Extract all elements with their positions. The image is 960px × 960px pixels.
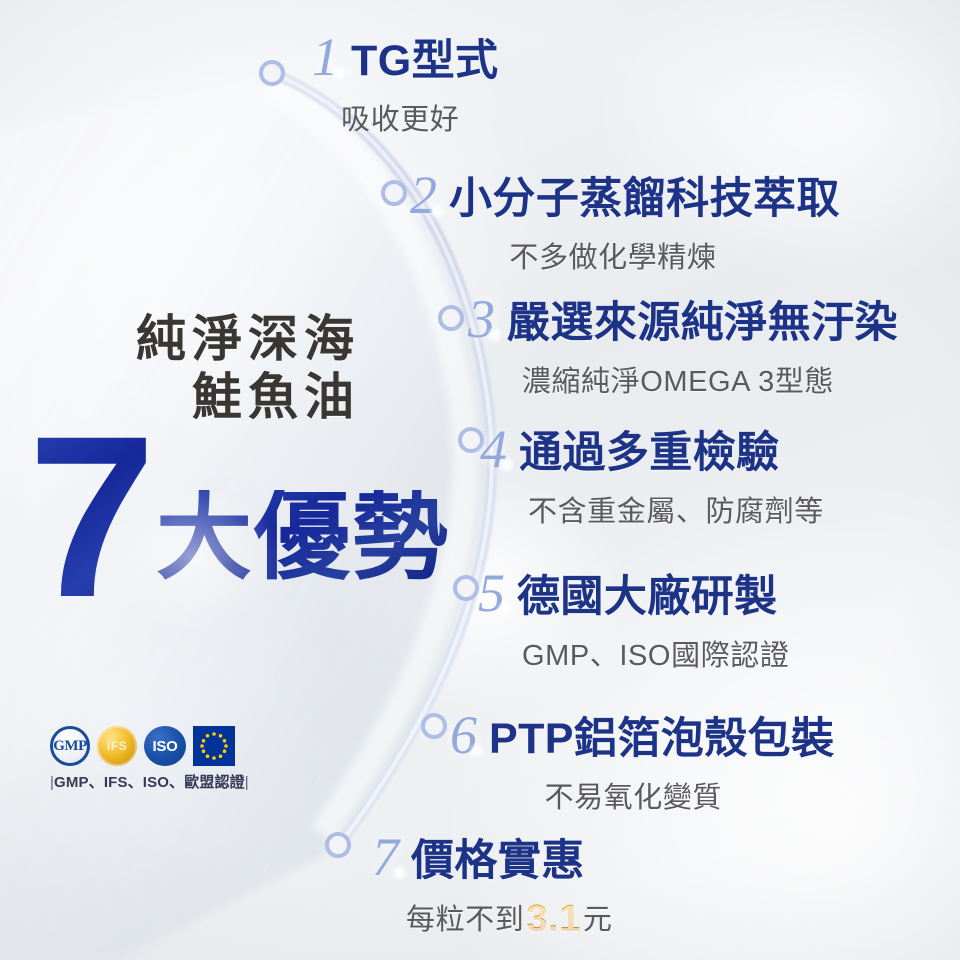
advantage-subtitle-3: 濃縮純淨OMEGA 3型態 xyxy=(468,358,898,400)
advantage-item-4: 4 通過多重檢驗 不含重金屬、防腐劑等 xyxy=(480,422,824,530)
advantage-title-6: PTP鋁箔泡殼包裝 xyxy=(489,718,835,761)
advantage-number-5: 5 xyxy=(478,566,505,620)
advantage-title-5: 德國大廠研製 xyxy=(517,576,778,619)
advantage-title-4: 通過多重檢驗 xyxy=(519,432,780,475)
advantage-number-6: 6 xyxy=(450,708,477,762)
certifications-caption: |GMP、IFS、ISO、歐盟認證| xyxy=(50,771,250,792)
gmp-badge-icon: GMP xyxy=(50,726,90,766)
advantage-item-2: 2 小分子蒸餾科技萃取 不多做化學精煉 xyxy=(410,168,840,276)
advantage-title-7: 價格實惠 xyxy=(411,840,585,883)
poster-canvas: 純淨深海 鮭魚油 7 大優勢 1 TG型式 吸收更好 2 小分子蒸餾科技萃取 不… xyxy=(0,0,960,960)
iso-badge-label: ISO xyxy=(153,738,178,755)
advantage-item-7: 7 價格實惠 每粒不到3.1元 xyxy=(372,830,613,941)
advantage-number-2: 2 xyxy=(410,168,437,222)
advantage-title-3: 嚴選來源純淨無汙染 xyxy=(507,302,898,345)
headline-block: 7 大優勢 xyxy=(28,430,458,610)
advantage-number-1: 1 xyxy=(312,30,339,84)
gmp-badge-label: GMP xyxy=(53,738,87,755)
advantage-item-3: 3 嚴選來源純淨無汙染 濃縮純淨OMEGA 3型態 xyxy=(468,292,898,400)
advantage-item-6: 6 PTP鋁箔泡殼包裝 不易氧化變質 xyxy=(450,708,835,816)
iso-badge-icon: ISO xyxy=(144,726,186,766)
advantage-subtitle-5: GMP、ISO國際認證 xyxy=(478,632,789,674)
advantage-subtitle-6: 不易氧化變質 xyxy=(450,774,835,816)
eu-flag-badge-icon xyxy=(193,726,235,766)
product-name-line1: 純淨深海 xyxy=(136,311,360,367)
advantage-number-7: 7 xyxy=(372,830,399,884)
advantage-subtitle-7-prefix: 每粒不到 xyxy=(406,904,524,936)
ifs-badge-icon: IFS xyxy=(97,726,137,766)
advantage-subtitle-2: 不多做化學精煉 xyxy=(410,234,840,276)
advantage-price-value: 3.1 xyxy=(524,898,583,940)
advantage-item-5: 5 德國大廠研製 GMP、ISO國際認證 xyxy=(478,566,789,674)
advantage-title-2: 小分子蒸餾科技萃取 xyxy=(449,178,840,221)
certifications-block: GMP IFS ISO xyxy=(50,726,250,792)
advantage-subtitle-4: 不含重金屬、防腐劑等 xyxy=(480,488,824,530)
big-number-7: 7 xyxy=(28,402,156,632)
advantage-subtitle-1: 吸收更好 xyxy=(312,96,498,138)
advantage-title-1: TG型式 xyxy=(351,40,498,83)
advantage-number-3: 3 xyxy=(468,292,495,346)
caption-close-bar: | xyxy=(245,774,249,791)
advantage-item-1: 1 TG型式 吸收更好 xyxy=(312,30,498,138)
advantage-price-unit: 元 xyxy=(583,904,613,936)
ifs-badge-label: IFS xyxy=(107,739,127,753)
big-word-advantages: 大優勢 xyxy=(156,490,450,586)
advantage-subtitle-7: 每粒不到3.1元 xyxy=(372,896,613,941)
advantage-number-4: 4 xyxy=(480,422,507,476)
caption-text: GMP、IFS、ISO、歐盟認證 xyxy=(54,774,245,791)
certification-badge-row: GMP IFS ISO xyxy=(50,726,250,766)
